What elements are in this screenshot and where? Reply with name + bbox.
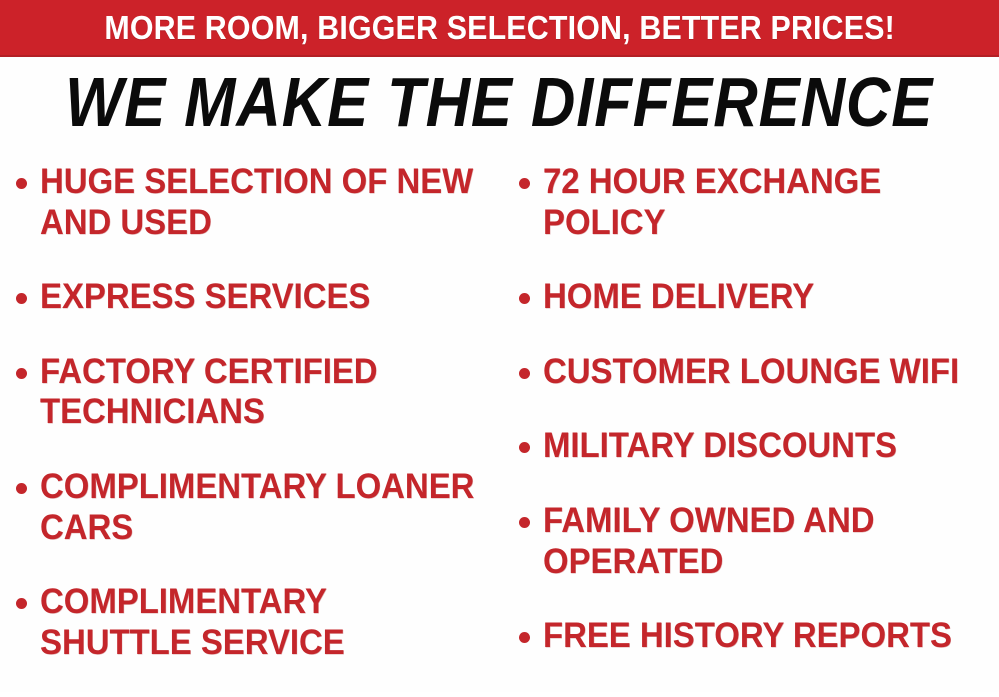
- page-title: WE MAKE THE DIFFERENCE: [65, 67, 933, 137]
- list-item: FREE HISTORY REPORTS: [519, 616, 999, 657]
- list-item: COMPLIMENTARY SHUTTLE SERVICE: [16, 582, 505, 663]
- bullet-dot-icon: [519, 293, 530, 304]
- list-item-label: EXPRESS SERVICES: [40, 277, 370, 318]
- bullet-dot-icon: [16, 368, 27, 379]
- list-item-label: CUSTOMER LOUNGE WIFI: [543, 352, 959, 393]
- list-item: FAMILY OWNED AND OPERATED: [519, 501, 999, 582]
- bullet-dot-icon: [519, 178, 530, 189]
- list-item: CUSTOMER LOUNGE WIFI: [519, 352, 999, 393]
- benefits-column-right: 72 HOUR EXCHANGE POLICY HOME DELIVERY CU…: [505, 152, 999, 691]
- list-item: EXPRESS SERVICES: [16, 277, 505, 318]
- list-item: HOME DELIVERY: [519, 277, 999, 318]
- list-item-label: 72 HOUR EXCHANGE POLICY: [543, 162, 972, 243]
- list-item: COMPLIMENTARY LOANER CARS: [16, 467, 505, 548]
- top-banner: MORE ROOM, BIGGER SELECTION, BETTER PRIC…: [0, 0, 999, 57]
- bullet-dot-icon: [519, 632, 530, 643]
- bullet-dot-icon: [519, 517, 530, 528]
- bullet-dot-icon: [16, 483, 27, 494]
- list-item-label: FAMILY OWNED AND OPERATED: [543, 501, 972, 582]
- bullet-dot-icon: [16, 293, 27, 304]
- bullet-dot-icon: [16, 598, 27, 609]
- benefits-columns: HUGE SELECTION OF NEW AND USED EXPRESS S…: [0, 152, 999, 692]
- list-item-label: HOME DELIVERY: [543, 277, 814, 318]
- list-item-label: COMPLIMENTARY SHUTTLE SERVICE: [40, 582, 477, 663]
- promotional-poster: MORE ROOM, BIGGER SELECTION, BETTER PRIC…: [0, 0, 999, 692]
- bullet-dot-icon: [16, 178, 27, 189]
- list-item: 72 HOUR EXCHANGE POLICY: [519, 162, 999, 243]
- benefits-column-left: HUGE SELECTION OF NEW AND USED EXPRESS S…: [0, 152, 505, 697]
- list-item-label: HUGE SELECTION OF NEW AND USED: [40, 162, 477, 243]
- list-item: MILITARY DISCOUNTS: [519, 426, 999, 467]
- list-item: HUGE SELECTION OF NEW AND USED: [16, 162, 505, 243]
- list-item: FACTORY CERTIFIED TECHNICIANS: [16, 352, 505, 433]
- list-item-label: FACTORY CERTIFIED TECHNICIANS: [40, 352, 477, 433]
- list-item-label: MILITARY DISCOUNTS: [543, 426, 897, 467]
- bullet-dot-icon: [519, 442, 530, 453]
- bullet-dot-icon: [519, 368, 530, 379]
- list-item-label: FREE HISTORY REPORTS: [543, 616, 952, 657]
- headline-container: WE MAKE THE DIFFERENCE: [0, 60, 999, 144]
- banner-headline-text: MORE ROOM, BIGGER SELECTION, BETTER PRIC…: [104, 11, 895, 44]
- list-item-label: COMPLIMENTARY LOANER CARS: [40, 467, 477, 548]
